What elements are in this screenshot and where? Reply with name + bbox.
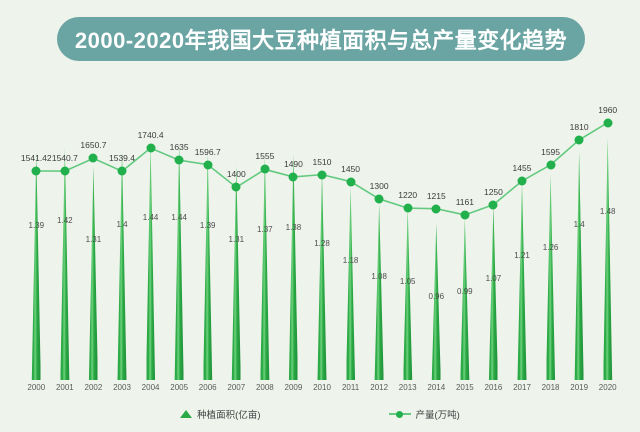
area-cone-shape: [403, 208, 412, 380]
area-cone-shape: [375, 203, 384, 380]
area-value-label: 1.37: [257, 225, 273, 234]
yield-value-label: 1400: [227, 169, 246, 179]
x-axis-tick: 2018: [542, 383, 560, 392]
area-cone-shape: [118, 151, 127, 380]
area-bar: 1.18: [337, 70, 365, 380]
yield-point: [203, 160, 212, 169]
x-axis-tick: 2008: [256, 383, 274, 392]
yield-point: [146, 143, 155, 152]
area-value-label: 1.21: [514, 251, 530, 260]
chart-legend: 种植面积(亿亩) 产量(万吨): [0, 404, 640, 424]
area-cone-shape: [518, 182, 527, 380]
yield-point: [118, 167, 127, 176]
yield-value-label: 1541.42: [21, 153, 52, 163]
yield-value-label: 1555: [255, 151, 274, 161]
area-value-label: 1.05: [400, 277, 416, 286]
area-cone-shape: [489, 205, 498, 380]
yield-point: [518, 176, 527, 185]
yield-point: [260, 165, 269, 174]
yield-value-label: 1540.7: [52, 153, 78, 163]
area-value-label: 1.44: [143, 213, 159, 222]
area-bar: 1.39: [194, 70, 222, 380]
area-cone-shape: [318, 170, 327, 380]
area-value-label: 1.07: [486, 274, 502, 283]
area-value-label: 1.28: [314, 239, 330, 248]
legend-label-area: 种植面积(亿亩): [197, 407, 260, 421]
legend-item-yield[interactable]: 产量(万吨): [389, 407, 460, 421]
area-cone-shape: [203, 152, 212, 380]
yield-point: [375, 194, 384, 203]
x-axis-tick: 2013: [399, 383, 417, 392]
x-axis-tick: 2002: [85, 383, 103, 392]
area-value-label: 1.39: [200, 221, 216, 230]
area-value-label: 1.44: [171, 213, 187, 222]
area-value-label: 0.96: [428, 292, 444, 301]
yield-value-label: 1215: [427, 191, 446, 201]
area-value-label: 1.31: [228, 235, 244, 244]
area-bar: 0.96: [422, 70, 450, 380]
x-axis-tick: 2012: [370, 383, 388, 392]
x-axis-tick: 2017: [513, 383, 531, 392]
yield-value-label: 1161: [456, 197, 474, 207]
area-value-label: 1.4: [116, 220, 127, 229]
x-axis-tick: 2000: [27, 383, 45, 392]
yield-value-label: 1490: [284, 159, 303, 169]
legend-label-yield: 产量(万吨): [416, 407, 460, 421]
yield-point: [489, 200, 498, 209]
x-axis-tick: 2003: [113, 383, 131, 392]
area-cone-shape: [260, 156, 269, 380]
area-cone-shape: [346, 187, 355, 380]
yield-point: [32, 166, 41, 175]
yield-value-label: 1250: [484, 187, 503, 197]
area-cone-shape: [60, 147, 69, 380]
area-cone-shape: [575, 151, 584, 380]
yield-value-label: 1220: [398, 190, 417, 200]
area-value-label: 1.39: [28, 221, 44, 230]
x-axis-tick: 2015: [456, 383, 474, 392]
area-value-label: 1.31: [86, 235, 102, 244]
area-cone-shape: [232, 166, 241, 381]
yield-value-label: 1300: [370, 181, 389, 191]
area-value-label: 1.38: [286, 223, 302, 232]
area-value-label: 0.99: [457, 287, 473, 296]
legend-item-area[interactable]: 种植面积(亿亩): [180, 407, 260, 421]
x-axis-tick: 2001: [56, 383, 74, 392]
yield-value-label: 1455: [513, 163, 532, 173]
yield-point: [346, 177, 355, 186]
area-bar: 1.48: [594, 70, 622, 380]
area-cone-shape: [32, 152, 41, 380]
area-bar: 1.07: [479, 70, 507, 380]
yield-value-label: 1596.7: [195, 147, 221, 157]
yield-point: [575, 135, 584, 144]
yield-point: [289, 172, 298, 181]
yield-point: [89, 154, 98, 163]
area-bar: 1.31: [222, 70, 250, 380]
yield-point: [403, 204, 412, 213]
x-axis-tick: 2005: [170, 383, 188, 392]
area-bar: 1.08: [365, 70, 393, 380]
x-axis-tick: 2011: [342, 383, 359, 392]
yield-value-label: 1960: [598, 105, 617, 115]
yield-point: [460, 210, 469, 219]
area-value-label: 1.26: [543, 243, 559, 252]
line-dot-marker-icon: [389, 410, 411, 418]
x-axis-tick: 2014: [427, 383, 445, 392]
x-axis-tick: 2020: [599, 383, 617, 392]
area-cone-shape: [546, 174, 555, 380]
triangle-marker-icon: [180, 410, 192, 418]
yield-value-label: 1635: [170, 142, 189, 152]
yield-value-label: 1650.7: [80, 140, 106, 150]
area-bar: 1.44: [165, 70, 193, 380]
area-value-label: 1.18: [343, 256, 359, 265]
yield-point: [603, 118, 612, 127]
yield-value-label: 1740.4: [138, 130, 164, 140]
yield-point: [432, 204, 441, 213]
x-axis-tick: 2009: [285, 383, 303, 392]
yield-point: [60, 167, 69, 176]
area-bar: 1.39: [22, 70, 50, 380]
yield-point: [546, 160, 555, 169]
area-bar: 1.44: [137, 70, 165, 380]
area-cone-shape: [603, 138, 612, 380]
area-bar: 1.42: [51, 70, 79, 380]
area-bar: 1.4: [565, 70, 593, 380]
x-axis-tick: 2016: [485, 383, 503, 392]
x-axis-tick: 2007: [227, 383, 245, 392]
chart-root: 2000-2020年我国大豆种植面积与总产量变化趋势 1.391.421.311…: [0, 0, 640, 432]
area-bar: 1.4: [108, 70, 136, 380]
area-bar: 1.31: [79, 70, 107, 380]
yield-point: [232, 183, 241, 192]
yield-point: [318, 170, 327, 179]
area-bar: 1.26: [537, 70, 565, 380]
chart-title-banner: 2000-2020年我国大豆种植面积与总产量变化趋势: [57, 17, 585, 61]
area-bar: 1.37: [251, 70, 279, 380]
area-cone-shape: [146, 144, 155, 380]
area-bar: 1.38: [279, 70, 307, 380]
area-cone-shape: [175, 144, 184, 380]
area-value-label: 1.42: [57, 216, 73, 225]
area-cone-shape: [289, 154, 298, 380]
x-axis: 2000200120022003200420052006200720082009…: [0, 383, 640, 399]
area-cone-shape: [432, 223, 441, 380]
area-cone-shape: [89, 166, 98, 381]
area-bar: 1.21: [508, 70, 536, 380]
x-axis-tick: 2004: [142, 383, 160, 392]
x-axis-tick: 2010: [313, 383, 331, 392]
yield-value-label: 1810: [570, 122, 589, 132]
yield-point: [175, 156, 184, 165]
yield-value-label: 1595: [541, 147, 560, 157]
area-bar: 1.28: [308, 70, 336, 380]
plot-area: 1.391.421.311.41.441.441.391.311.371.381…: [0, 70, 640, 380]
area-value-label: 1.08: [371, 272, 387, 281]
area-bar: 0.99: [451, 70, 479, 380]
yield-value-label: 1510: [313, 157, 332, 167]
x-axis-tick: 2006: [199, 383, 217, 392]
area-value-label: 1.48: [600, 207, 616, 216]
yield-value-label: 1450: [341, 164, 360, 174]
area-bar: 1.05: [394, 70, 422, 380]
yield-value-label: 1539.4: [109, 153, 135, 163]
page-title: 2000-2020年我国大豆种植面积与总产量变化趋势: [75, 23, 567, 55]
area-cone-shape: [460, 218, 469, 380]
area-value-label: 1.4: [574, 220, 585, 229]
x-axis-tick: 2019: [570, 383, 588, 392]
